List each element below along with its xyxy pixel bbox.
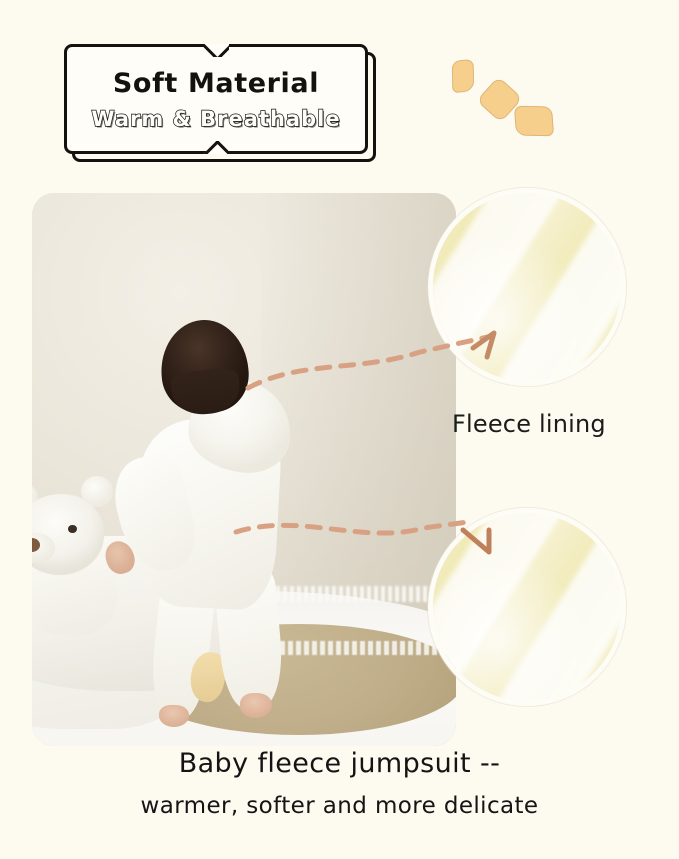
fleece-closeup-bottom bbox=[428, 508, 626, 706]
caption-block: Baby fleece jumpsuit -- warmer, softer a… bbox=[0, 748, 679, 819]
decorative-shape-3-icon bbox=[514, 106, 554, 137]
caption-line-1: Baby fleece jumpsuit -- bbox=[0, 748, 679, 779]
decorative-shape-1-icon bbox=[452, 59, 474, 93]
caption-line-2: warmer, softer and more delicate bbox=[0, 793, 679, 819]
fleece-highlight bbox=[433, 193, 621, 381]
badge-top-notch bbox=[203, 44, 229, 57]
badge-title: Soft Material bbox=[113, 69, 319, 99]
baby-foot-back bbox=[159, 705, 189, 727]
badge: Soft Material Warm & Breathable bbox=[64, 44, 376, 162]
badge-bottom-notch bbox=[203, 141, 229, 154]
fleece-closeup-top bbox=[428, 188, 626, 386]
product-feature-card: Soft Material Warm & Breathable bbox=[0, 0, 679, 859]
fleece-highlight bbox=[433, 513, 621, 701]
badge-card: Soft Material Warm & Breathable bbox=[64, 44, 368, 154]
product-photo bbox=[32, 193, 456, 746]
badge-subtitle: Warm & Breathable bbox=[91, 107, 340, 131]
fleece-lining-label: Fleece lining bbox=[452, 410, 606, 438]
